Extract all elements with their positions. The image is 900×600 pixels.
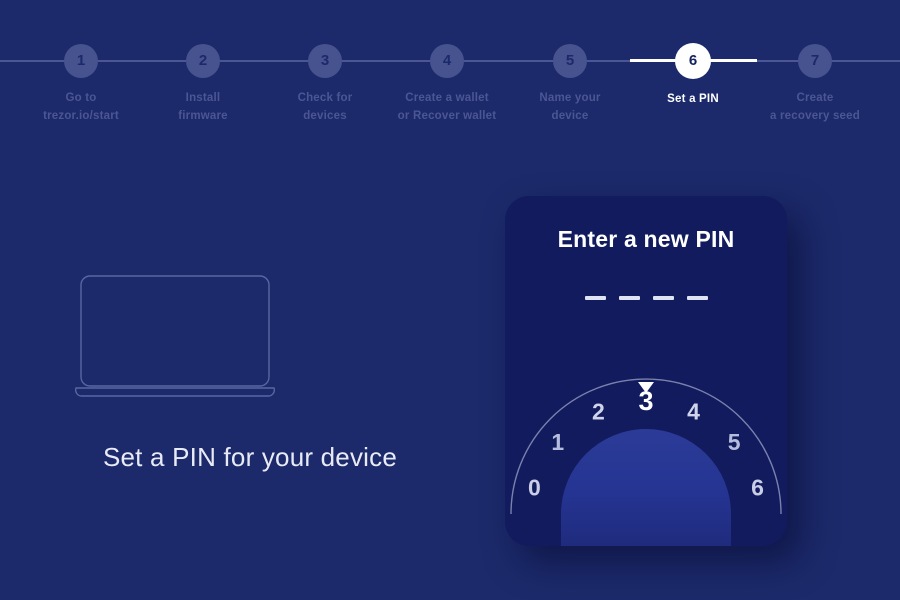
stepper-step-4-number: 4 [430, 44, 464, 78]
stepper-step-7-label: Create a recovery seed [735, 89, 895, 125]
stepper-step-5-number: 5 [553, 44, 587, 78]
onboarding-screen: 1 Go to trezor.io/start 2 Install firmwa… [0, 0, 900, 600]
pin-entry-card: Enter a new PIN [505, 196, 787, 546]
laptop-icon [75, 272, 275, 412]
stepper-step-3-number: 3 [308, 44, 342, 78]
pin-number-dial[interactable]: 0 1 2 3 4 5 6 [505, 196, 787, 546]
stepper-step-6-number: 6 [675, 43, 711, 79]
left-panel-caption: Set a PIN for your device [0, 442, 500, 473]
stepper-step-7[interactable]: 7 Create a recovery seed [735, 0, 895, 125]
dial-pointer-icon [638, 382, 654, 393]
stepper-step-2-number: 2 [186, 44, 220, 78]
stepper-step-7-number: 7 [798, 44, 832, 78]
left-illustration-panel: Set a PIN for your device [0, 180, 500, 560]
onboarding-stepper: 1 Go to trezor.io/start 2 Install firmwa… [0, 0, 900, 150]
stepper-step-1-number: 1 [64, 44, 98, 78]
